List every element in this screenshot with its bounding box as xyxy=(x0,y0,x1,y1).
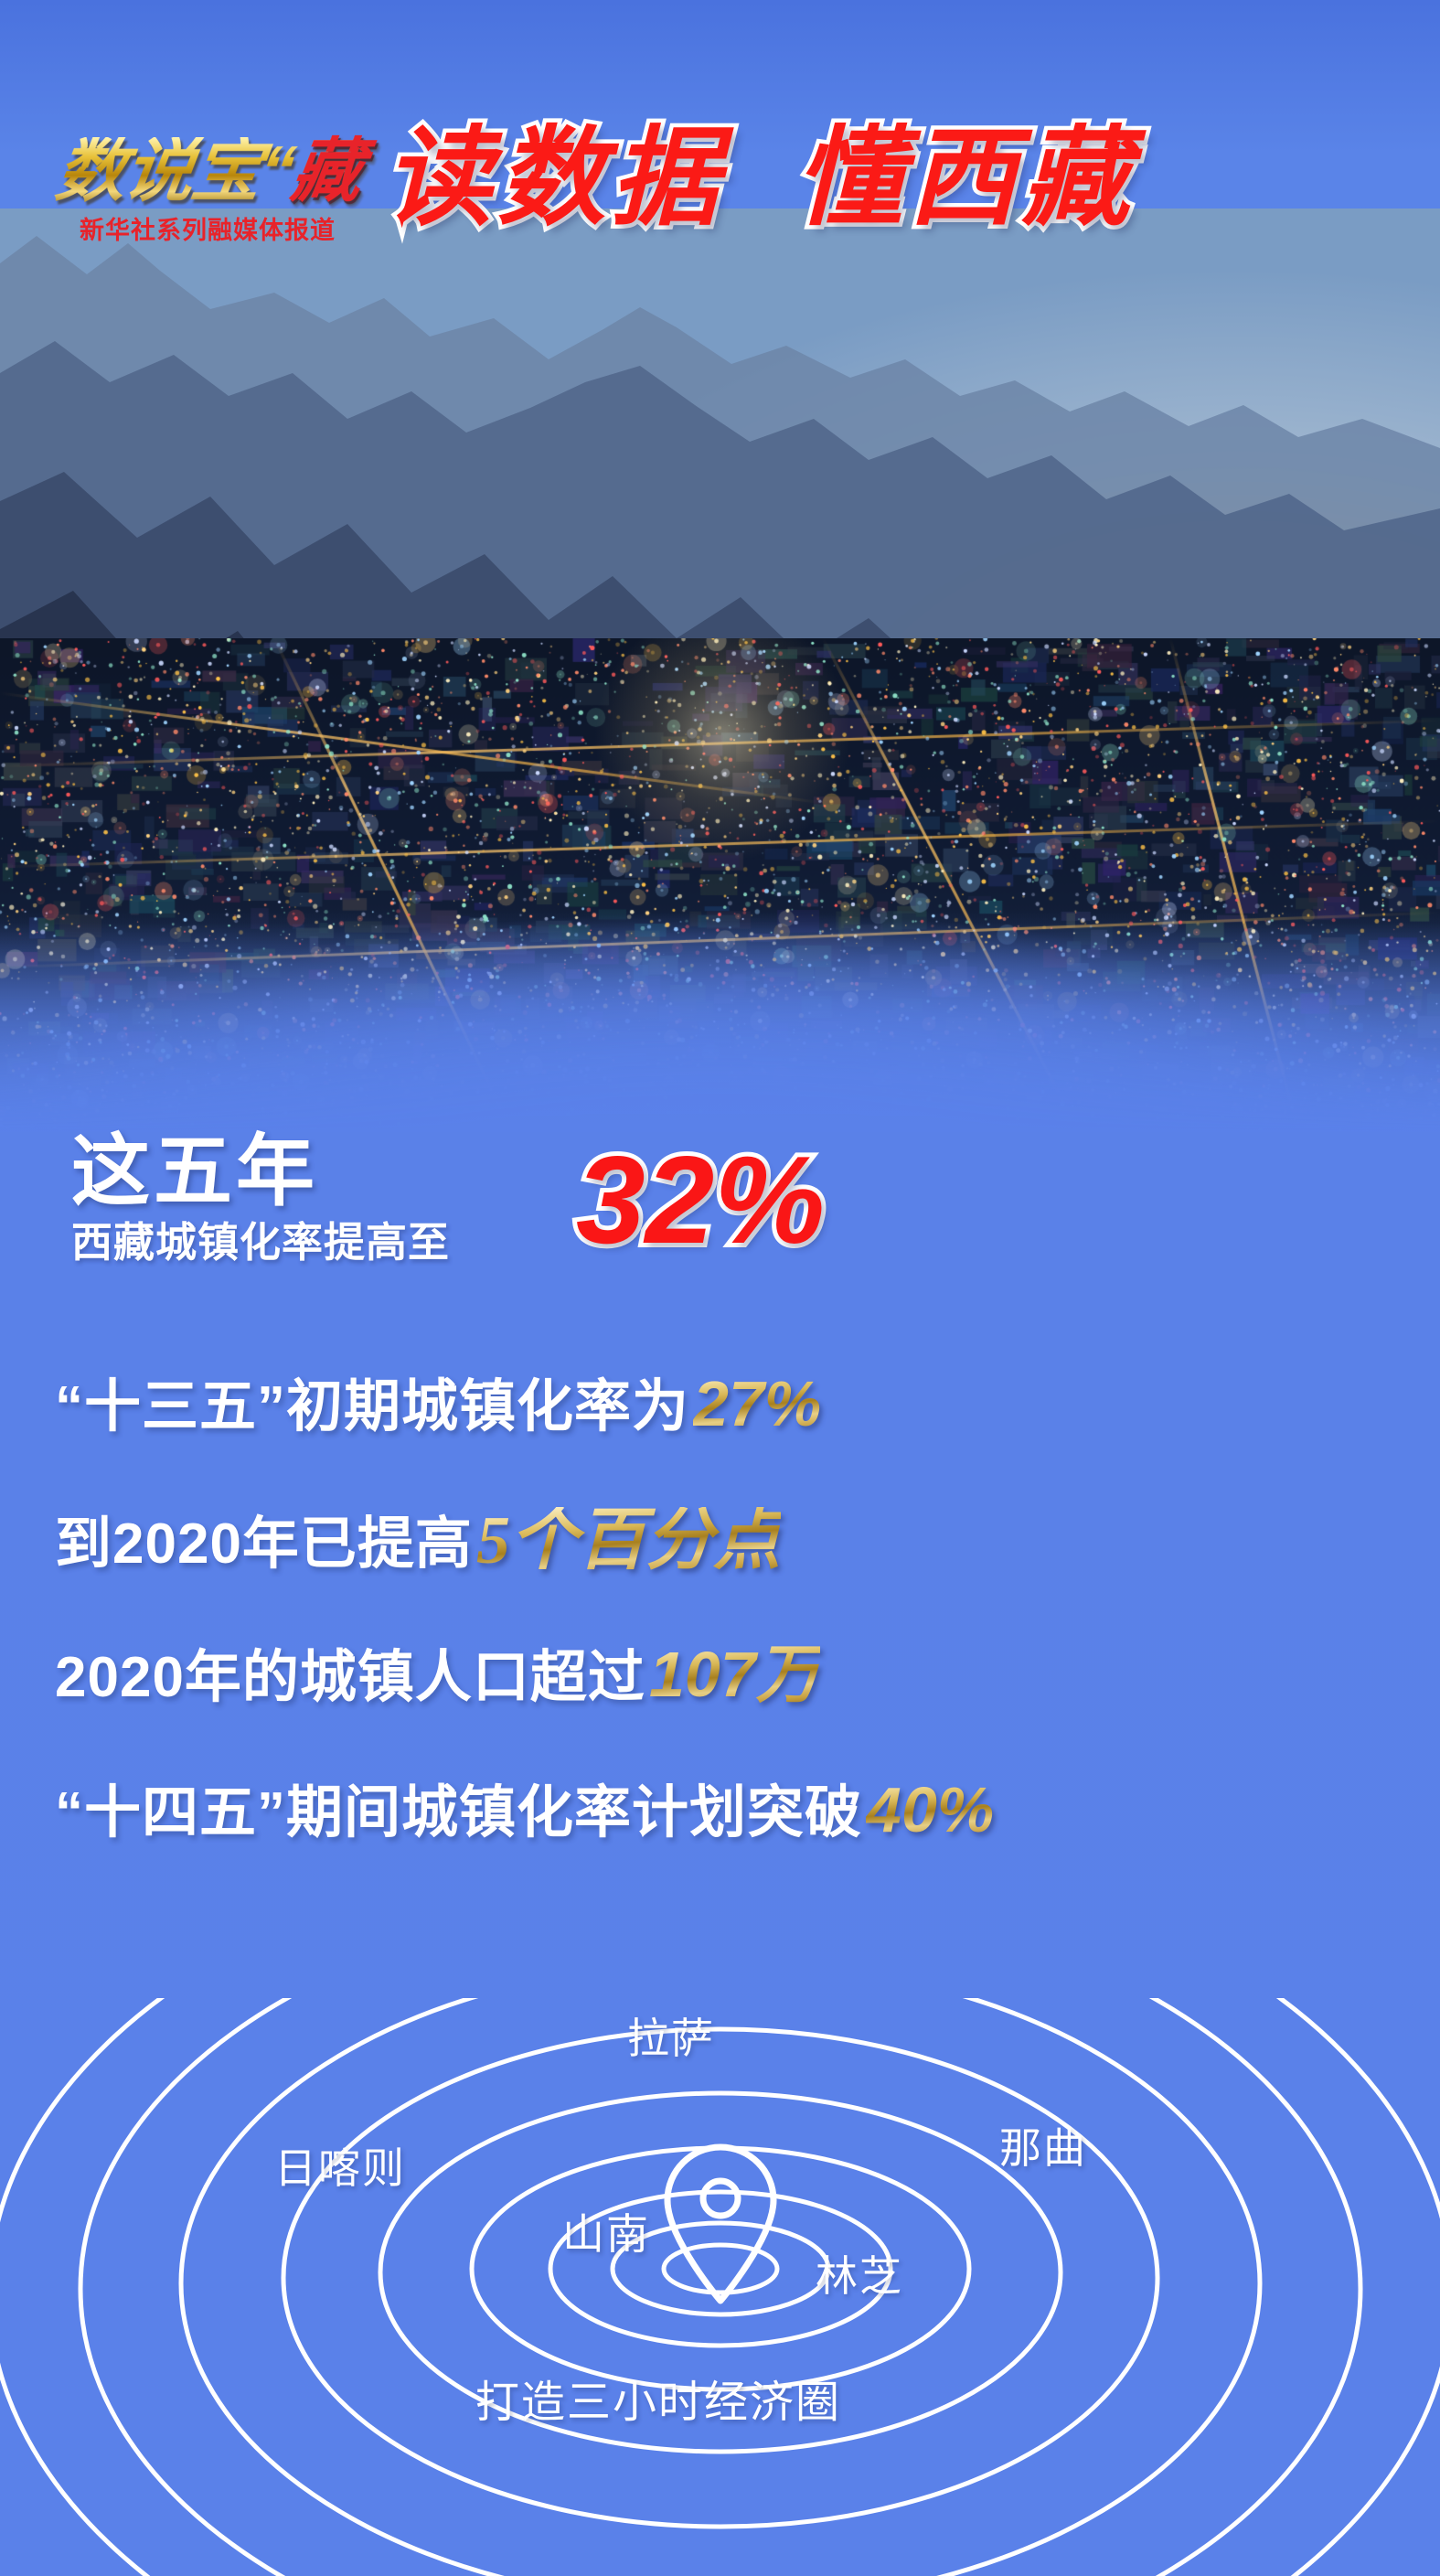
fact-text: “十四五”期间城镇化率计划突破 xyxy=(55,1785,862,1842)
fact-value: 27% xyxy=(693,1372,821,1436)
fact-value: 107万 xyxy=(649,1642,820,1706)
fact-line: “十三五”初期城镇化率为 27% xyxy=(0,1372,1440,1507)
radar-label-shigatse: 日喀则 xyxy=(274,2135,406,2196)
page-title: 读数据 懂西藏 xyxy=(384,124,1136,232)
fact-text: 2020年的城镇人口超过 xyxy=(55,1650,645,1706)
fact-line: “十四五”期间城镇化率计划突破 40% xyxy=(0,1778,1440,1913)
fact-value: 5个百分点 xyxy=(476,1507,781,1575)
headline-part2: 懂西藏 xyxy=(795,118,1136,239)
header: 数说宝“藏” 新华社系列融媒体报道 读数据 懂西藏 xyxy=(0,0,1440,329)
brand-subtitle: 新华社系列融媒体报道 xyxy=(57,210,358,246)
brand-logo-main: 数说宝 xyxy=(51,133,265,210)
fact-list: “十三五”初期城镇化率为 27% 到2020年已提高 5个百分点 2020年的城… xyxy=(0,1372,1440,1913)
radar-caption: 打造三小时经济圈 xyxy=(475,2366,841,2430)
brand-logo: 数说宝“藏” 新华社系列融媒体报道 xyxy=(57,137,358,246)
brand-logo-accent: 藏 xyxy=(287,133,366,210)
fact-line: 2020年的城镇人口超过 107万 xyxy=(0,1642,1440,1778)
hero-photo xyxy=(0,208,1440,1132)
stat-subtitle: 西藏城镇化率提高至 xyxy=(71,1222,450,1263)
photo-bottom-wash xyxy=(0,922,1440,1132)
fact-value: 40% xyxy=(866,1778,994,1842)
ripple-ring-9 xyxy=(0,1998,1440,2576)
ripple-ring-1 xyxy=(664,2245,777,2293)
fact-text: “十三五”初期城镇化率为 xyxy=(55,1379,689,1436)
stat-block: 这五年 西藏城镇化率提高至 32% xyxy=(0,1132,1440,1352)
brand-logo-mark: 数说宝“藏” xyxy=(52,137,364,207)
radar-label-lhasa: 拉萨 xyxy=(627,2005,715,2066)
radar-label-shannan: 山南 xyxy=(562,2201,650,2261)
radar-label-nagqu: 那曲 xyxy=(999,2115,1087,2175)
poster-root: 数说宝“藏” 新华社系列融媒体报道 读数据 懂西藏 这五年 西藏城镇化率提高至 xyxy=(0,0,1440,2576)
ripple-rings xyxy=(0,1998,1440,2576)
fact-text: 到2020年已提高 xyxy=(55,1516,473,1573)
fact-line: 到2020年已提高 5个百分点 xyxy=(0,1507,1440,1642)
stat-text-group: 这五年 西藏城镇化率提高至 xyxy=(71,1132,450,1263)
radar-label-nyingchi: 林芝 xyxy=(816,2243,903,2303)
ripple-ring-8 xyxy=(80,1998,1360,2576)
headline-part1: 读数据 xyxy=(384,118,724,239)
economic-circle-diagram: 拉萨 日喀则 那曲 山南 林芝 打造三小时经济圈 xyxy=(0,1998,1440,2576)
stat-headline: 这五年 xyxy=(71,1132,450,1211)
ripple-ring-7 xyxy=(181,1998,1260,2576)
stat-value: 32% xyxy=(576,1138,825,1262)
